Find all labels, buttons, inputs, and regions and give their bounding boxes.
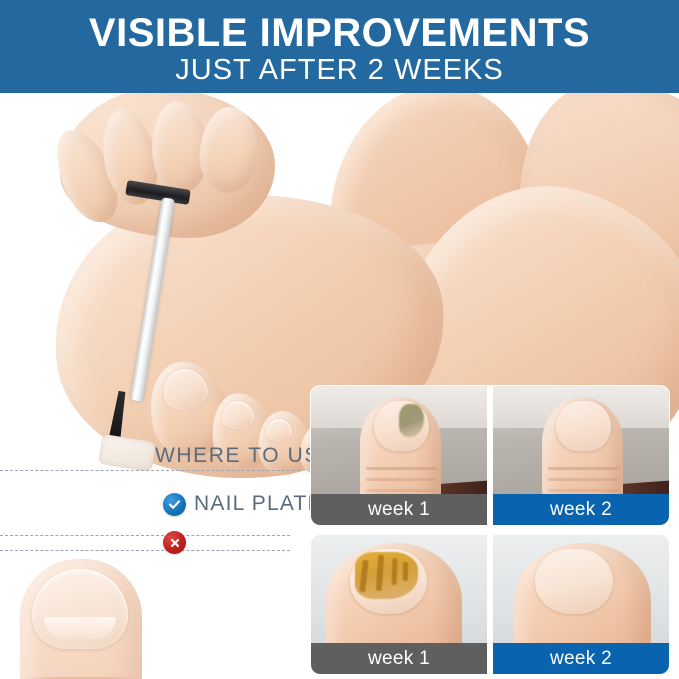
comparison-cell-after: week 2 xyxy=(493,386,669,525)
banner-title: VISIBLE IMPROVEMENTS xyxy=(0,12,679,54)
comparison-cell-before: week 1 xyxy=(311,535,487,674)
callout-item-nail-plate: NAIL PLATE xyxy=(163,492,323,516)
fingertip-closeup-image xyxy=(20,559,142,679)
leader-line-top xyxy=(0,470,300,471)
x-badge-icon xyxy=(163,531,186,554)
product-infographic: VISIBLE IMPROVEMENTS JUST AFTER 2 WEEKS xyxy=(0,0,679,679)
comparison-cell-before: week 1 xyxy=(311,386,487,525)
comparison-label-after: week 2 xyxy=(493,494,669,525)
comparison-cell-after: week 2 xyxy=(493,535,669,674)
callout-item-not-allowed xyxy=(163,531,186,554)
callout-title: WHERE TO USE xyxy=(155,444,336,468)
leader-line-bottom xyxy=(0,550,290,551)
header-banner: VISIBLE IMPROVEMENTS JUST AFTER 2 WEEKS xyxy=(0,0,679,93)
leader-line-middle xyxy=(0,535,290,536)
banner-subtitle: JUST AFTER 2 WEEKS xyxy=(0,54,679,86)
comparison-label-before: week 1 xyxy=(311,643,487,674)
comparison-row-fingernail: week 1 week 2 xyxy=(311,386,669,525)
comparison-label-before: week 1 xyxy=(311,494,487,525)
comparison-label-after: week 2 xyxy=(493,643,669,674)
before-after-grid: week 1 week 2 xyxy=(311,386,669,674)
callout-item-label: NAIL PLATE xyxy=(194,492,323,516)
check-badge-icon xyxy=(163,493,186,516)
comparison-row-toenail: week 1 week 2 xyxy=(311,535,669,674)
